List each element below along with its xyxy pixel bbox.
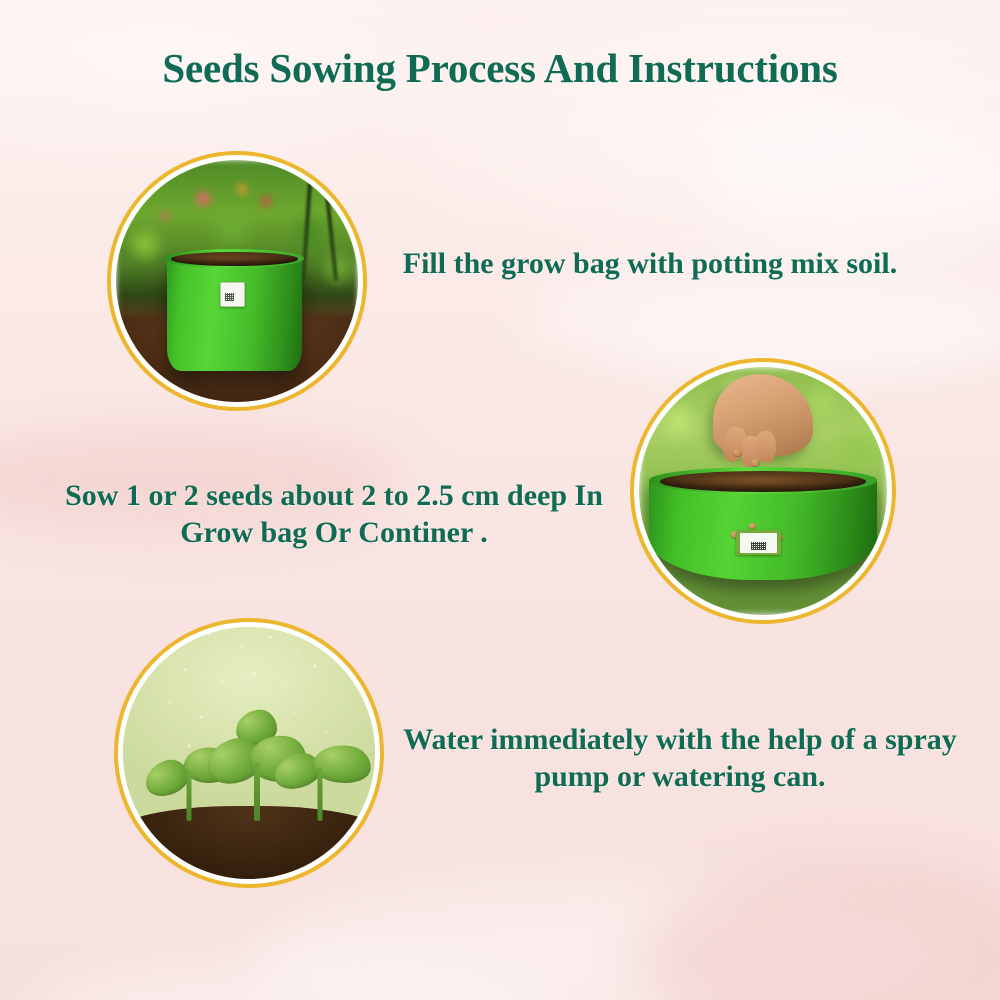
potting-mix-soil <box>660 471 865 492</box>
seed <box>749 523 756 529</box>
grow-bag <box>649 476 877 580</box>
seed <box>733 449 742 456</box>
grow-bag <box>167 257 303 371</box>
step-2-caption: Sow 1 or 2 seeds about 2 to 2.5 cm deep … <box>48 478 620 551</box>
stem <box>254 763 260 821</box>
photo-clip <box>639 367 887 615</box>
hand-sowing-seeds-photo <box>630 358 896 624</box>
photo-clip <box>116 160 358 402</box>
stem <box>317 768 322 821</box>
step-3-caption: Water immediately with the help of a spr… <box>392 722 968 795</box>
potting-mix-soil <box>171 252 298 266</box>
photo-clip <box>123 627 375 879</box>
page-title: Seeds Sowing Process And Instructions <box>0 46 1000 91</box>
qr-code-icon <box>751 542 766 549</box>
product-label-tag <box>220 282 245 307</box>
seedling <box>279 730 360 821</box>
seed <box>751 459 760 466</box>
stem <box>186 773 191 821</box>
infographic-poster: Seeds Sowing Process And Instructions Fi… <box>0 0 1000 1000</box>
step-1-caption: Fill the grow bag with potting mix soil. <box>372 246 928 283</box>
grow-bag-with-soil-photo <box>107 151 367 411</box>
product-label-tag <box>736 530 782 555</box>
watering-seedlings-photo <box>114 618 384 888</box>
